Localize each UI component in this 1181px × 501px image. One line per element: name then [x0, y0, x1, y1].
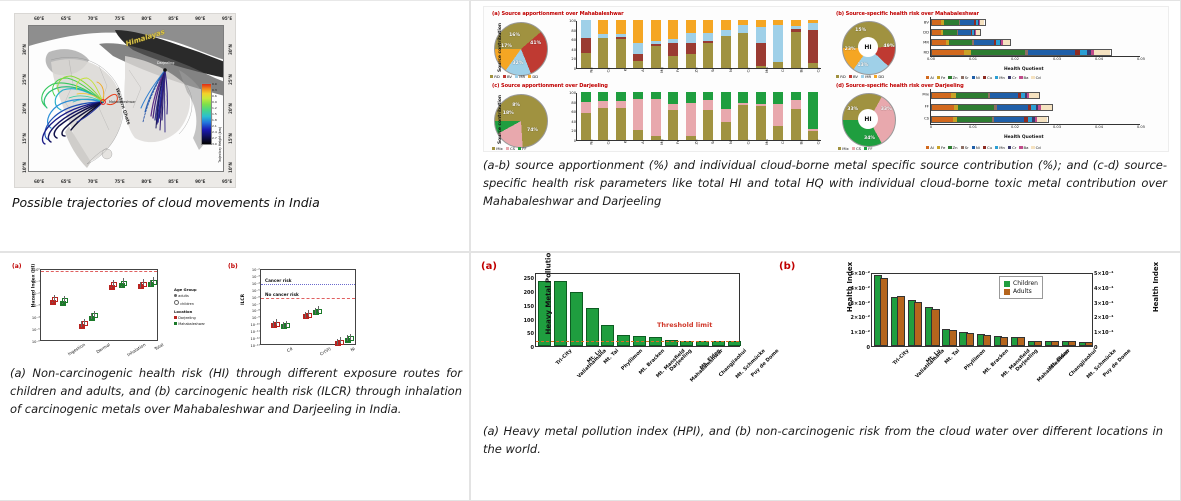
- scatter-point: [338, 340, 344, 345]
- hbar-seg: [949, 40, 972, 45]
- trajectory-map: 60°E65°E70°E75°E80°E85°E90°E95°E 60°E65°…: [14, 13, 236, 188]
- legend-swatch: [503, 75, 506, 78]
- scatter-errbar: [318, 306, 319, 312]
- figure3-panel-b-tag: (b): [228, 263, 238, 270]
- bar-segment-RD: [703, 43, 713, 68]
- bar-segment-FF: [598, 92, 608, 101]
- pie-slice-label: 32%: [512, 61, 523, 66]
- bar-segment-BV: [756, 43, 766, 66]
- legend-entry: Mn: [995, 75, 1005, 80]
- bar-segment-RD: [633, 61, 643, 68]
- hbar-seg: [971, 50, 1025, 55]
- panel-c-bar-axes: 020406080100NaCaKAlMgFeZnSrNiCuMnCrBaCd: [576, 93, 821, 141]
- hbar-seg: [932, 105, 954, 110]
- stacked-bar: [633, 92, 643, 140]
- hi-bar-Adults-1: [897, 296, 905, 346]
- hi-bar-Adults-4: [949, 330, 957, 346]
- bar-segment-MR: [756, 27, 766, 43]
- hpi-ytick: 50: [527, 331, 534, 337]
- scatter-xtick: Cr(VI): [319, 346, 332, 357]
- map-colorbar-tick: 3.0: [212, 142, 217, 146]
- scatter-ytick: 10⁻⁸: [252, 309, 260, 313]
- map-lon-tick: 90°E: [195, 16, 205, 21]
- figure2-caption: (a-b) source apportionment (%) and indiv…: [483, 157, 1167, 210]
- hbar-seg: [944, 20, 960, 25]
- pie-slice-label: 34%: [864, 136, 875, 141]
- scatter-ytick: 10⁻⁵: [252, 289, 260, 293]
- figure3-panel-a-axes: 10⁻⁶10⁻⁵10⁻⁴10⁻³10⁻²10⁻¹10⁰IngestionDerm…: [40, 269, 158, 341]
- scatter-errbar: [54, 295, 55, 301]
- map-lon-tick: 85°E: [168, 16, 178, 21]
- threshold-limit-label: Threshold limit: [657, 321, 712, 329]
- scatter-point: [121, 281, 127, 286]
- pie-slice-label: 41%: [530, 41, 541, 46]
- scatter-errbar: [350, 334, 351, 340]
- legend-label: CS: [856, 146, 861, 151]
- bar-xtick: Mn: [764, 139, 769, 145]
- scatter-ytick: 10⁻⁷: [252, 303, 260, 307]
- legend-swatch: [926, 76, 929, 79]
- bar-xtick: Ni: [728, 140, 733, 144]
- map-lon-tick: 60°E: [34, 16, 44, 21]
- bar-segment-DD: [703, 20, 713, 32]
- bar-segment-FF: [791, 92, 801, 100]
- hpi-ytick: 150: [524, 304, 534, 310]
- bar-segment-FF: [651, 92, 661, 99]
- hbar-seg: [964, 50, 971, 55]
- legend-entry: CS: [506, 146, 515, 151]
- legend-label: Zn: [953, 145, 958, 150]
- scatter-xtick: Ni: [350, 346, 356, 353]
- hi-bar-Adults-9: [1034, 341, 1042, 346]
- legend-label: MR: [865, 74, 871, 79]
- scatter-errbar: [340, 337, 341, 343]
- figure3-caption: (a) Non-carcinogenic health risk (HI) th…: [10, 365, 462, 418]
- legend-entry: Cu: [983, 75, 992, 80]
- bar-segment-MR: [738, 25, 748, 33]
- legend-swatch: [1008, 76, 1011, 79]
- bar-segment-MR: [633, 43, 643, 54]
- bar-xtick: Sr: [710, 140, 715, 144]
- map-colorbar: [201, 83, 212, 145]
- legend-entry: CS: [852, 146, 861, 151]
- stacked-bar: [686, 92, 696, 140]
- legend-swatch: [849, 75, 852, 78]
- hi-bar-Adults-7: [1000, 337, 1008, 346]
- legend-entry: Fe: [937, 145, 946, 150]
- legend-mahabaleshwar-label: Mahabaleshwar: [178, 322, 205, 326]
- scatter-errbar: [113, 280, 114, 286]
- legend-swatch: [852, 147, 855, 150]
- bar-xtick: Ni: [728, 68, 733, 72]
- hbar-seg: [932, 93, 951, 98]
- hi-ytick-right: 4×10⁻⁴: [1094, 286, 1113, 292]
- bar-segment-CS: [721, 109, 731, 121]
- hpi-xtick: Tri-City: [555, 348, 573, 366]
- bar-xtick: Cu: [746, 67, 751, 72]
- bar-segment-Mix: [633, 130, 643, 140]
- figure4-panel-a-ylabel: Heavy Metal Pollution Index: [545, 252, 553, 335]
- scatter-ytick: 10⁻⁵: [32, 328, 40, 332]
- map-lat-tick: 25°N: [228, 74, 233, 85]
- hbar-xtick: 0.04: [1095, 125, 1103, 129]
- hbar-seg: [994, 117, 1024, 122]
- bar-xtick: Na: [588, 67, 593, 72]
- hi-ytick-right: 3×10⁻⁴: [1094, 301, 1113, 307]
- bar-xtick: Cr: [780, 67, 785, 71]
- hbar-xtick: 0.04: [1095, 57, 1103, 61]
- hi-ytick-left: 0: [867, 345, 870, 351]
- bar-ytick: 0: [574, 139, 576, 143]
- bar-xtick: Ba: [798, 139, 803, 144]
- hpi-ytick: 0: [531, 345, 534, 351]
- bar-xtick: Ca: [606, 67, 611, 72]
- bar-xtick: Ca: [606, 139, 611, 144]
- scatter-point: [52, 297, 58, 302]
- bar-segment-CS: [581, 102, 591, 114]
- scatter-point: [306, 313, 312, 318]
- map-lon-tick: 95°E: [222, 16, 232, 21]
- stacked-bar: [598, 92, 608, 140]
- legend-label: RD: [494, 74, 500, 79]
- scatter-errbar: [143, 279, 144, 285]
- map-lon-tick: 65°E: [61, 16, 71, 21]
- legend-swatch: [836, 75, 839, 78]
- legend-row: Children: [1004, 280, 1038, 287]
- map-lon-tick: 95°E: [222, 179, 232, 184]
- hi-ytick-right: 1×10⁻⁴: [1094, 330, 1113, 336]
- legend-entry: Mix: [838, 146, 849, 151]
- map-lon-tick: 80°E: [141, 16, 151, 21]
- legend-swatch: [515, 75, 518, 78]
- map-lat-tick: 10°N: [228, 162, 233, 173]
- stacked-bar: [616, 20, 626, 68]
- bar-segment-FF: [581, 92, 591, 102]
- figure3-image: (a) 10⁻⁶10⁻⁵10⁻⁴10⁻³10⁻²10⁻¹10⁰Ingestion…: [6, 261, 461, 359]
- bar-segment-CS: [703, 100, 713, 111]
- figure2-image: (a) Source apportionment over Mahabalesh…: [483, 6, 1169, 152]
- scatter-point: [62, 298, 68, 303]
- legend-label: DD: [878, 74, 884, 79]
- scatter-errbar: [84, 319, 85, 325]
- bar-segment-DD: [616, 20, 626, 34]
- hbar-seg: [932, 117, 953, 122]
- legend-swatch: [995, 76, 998, 79]
- stacked-bar: [651, 20, 661, 68]
- scatter-ytick: 10⁻³: [252, 275, 260, 279]
- hbar-seg: [932, 30, 941, 35]
- cell-health-risk: (a) 10⁻⁶10⁻⁵10⁻⁴10⁻³10⁻²10⁻¹10⁰Ingestion…: [0, 252, 470, 501]
- legend-swatch: [1031, 76, 1034, 79]
- bar-xtick: Al: [640, 140, 645, 144]
- legend-row: Adults: [1004, 288, 1038, 295]
- stacked-bar: [581, 92, 591, 140]
- bar-xtick: Ba: [798, 67, 803, 72]
- map-colorbar-tick: 0.9: [212, 100, 217, 104]
- cell-source-apportionment: (a) Source apportionment over Mahabalesh…: [470, 0, 1181, 252]
- legend-adults-label: adults: [178, 294, 188, 298]
- figure2-panel-d: (d) Source-specific health risk over Dar…: [834, 83, 1164, 151]
- bar-xtick: Na: [588, 139, 593, 144]
- scatter-ytick: 10⁻¹³: [250, 344, 259, 348]
- scatter-errbar: [94, 311, 95, 317]
- legend-label: Fe: [941, 75, 945, 80]
- map-lat-tick: 10°N: [22, 162, 27, 173]
- legend-label: Mix: [842, 146, 849, 151]
- hi-xtick: Mt. Elden: [1048, 348, 1071, 371]
- hbar-seg: [943, 30, 957, 35]
- figure4-panel-a-axes: 050100150200250Tri-CityValiathamanaMt. L…: [535, 273, 740, 347]
- bar-segment-Mix: [773, 126, 783, 140]
- scatter-xtick: Cd: [286, 346, 293, 353]
- bar-segment-DD: [686, 20, 696, 33]
- map-colorbar-tick: 1.2: [212, 106, 217, 110]
- bar-segment-DD: [651, 20, 661, 41]
- scatter-errbar: [276, 319, 277, 325]
- legend-entry: FF: [864, 146, 873, 151]
- figure4-panel-b-ylabel-right: Health Index: [1152, 262, 1160, 312]
- bar-segment-DD: [598, 20, 608, 34]
- bar-segment-RD: [616, 39, 626, 68]
- panel-d-legend: MixCSFF: [838, 146, 873, 151]
- legend-label: Children: [1013, 280, 1038, 287]
- legend-entry: Mix: [492, 146, 503, 151]
- figure1-caption: Possible trajectories of cloud movements…: [12, 195, 452, 210]
- map-colorbar-tick: 0.0: [212, 82, 217, 86]
- legend-label: Cd: [1036, 145, 1041, 150]
- hbar-seg: [960, 20, 974, 25]
- hpi-ytick: 250: [524, 276, 534, 282]
- legend-swatch: [1031, 146, 1034, 149]
- map-lat-tick: 20°N: [22, 103, 27, 114]
- scatter-xtick: Dermal: [96, 342, 112, 354]
- hi-xtick: Mt. Tai: [943, 348, 961, 366]
- legend-swatch: [518, 147, 521, 150]
- legend-entry: Sr: [961, 75, 969, 80]
- stacked-bar: [703, 92, 713, 140]
- hbar-MR: [931, 39, 1011, 46]
- bar-xtick: Fe: [675, 139, 680, 143]
- map-lon-tick: 75°E: [115, 16, 125, 21]
- legend-children-label: children: [180, 302, 194, 306]
- pie-slice-label: 33%: [881, 107, 892, 112]
- map-canvas: Himalayas Western Ghats Mahabaleshwar Da…: [28, 25, 224, 172]
- cell-hpi: (a) 050100150200250Tri-CityValiathamanaM…: [470, 252, 1181, 501]
- map-colorbar-tick: 2.1: [212, 124, 217, 128]
- legend-entry: RD: [836, 74, 846, 79]
- stacked-bar: [791, 92, 801, 140]
- hbar-xtick: 0.03: [1053, 125, 1061, 129]
- bar-segment-FF: [686, 92, 696, 103]
- legend-label: Cr: [1012, 145, 1016, 150]
- map-lon-tick: 90°E: [195, 179, 205, 184]
- bar-segment-Mix: [703, 110, 713, 140]
- scatter-ytick: 10⁻¹²: [250, 337, 259, 341]
- hbar-seg: [976, 30, 980, 35]
- legend-entry: BV: [849, 74, 858, 79]
- legend-label: RD: [840, 74, 846, 79]
- map-lat-tick: 20°N: [228, 103, 233, 114]
- legend-entry: Cr: [1008, 75, 1016, 80]
- figure4-panel-b-legend: ChildrenAdults: [999, 276, 1043, 299]
- legend-swatch: [1004, 281, 1010, 287]
- legend-swatch: [948, 76, 951, 79]
- legend-entry: Zn: [948, 145, 957, 150]
- stacked-bar: [651, 92, 661, 140]
- hbar-xtick: 0: [930, 125, 932, 129]
- legend-swatch: [937, 146, 940, 149]
- stacked-bar: [703, 20, 713, 68]
- hbar-seg: [980, 20, 985, 25]
- hpi-ytick: 200: [524, 290, 534, 296]
- scatter-ytick: 10⁻⁶: [252, 296, 260, 300]
- figure3-panel-a-ylabel: Hazard Index (HI): [31, 264, 36, 308]
- bar-xtick: Cd: [816, 139, 821, 144]
- panel-d-metal-legend: AlFeZnSrNiCuMnCrBaCd: [926, 145, 1041, 150]
- legend-entry: Al: [926, 75, 934, 80]
- scatter-ytick: 10⁻¹⁰: [250, 323, 259, 327]
- legend-entry: Fe: [937, 75, 946, 80]
- pie-slice-label: 18%: [503, 111, 514, 116]
- bar-segment-Mix: [738, 105, 748, 140]
- map-colorbar-tick: 2.4: [212, 130, 217, 134]
- scatter-errbar: [64, 296, 65, 302]
- hpi-bar-4: [601, 325, 614, 346]
- legend-swatch: [861, 75, 864, 78]
- legend-entry: Ba: [1019, 75, 1028, 80]
- legend-label: Mn: [999, 145, 1005, 150]
- legend-label: Mn: [999, 75, 1005, 80]
- bar-xtick: Sr: [710, 68, 715, 72]
- hi-bar-Adults-0: [880, 278, 888, 346]
- scatter-xtick: Total: [154, 342, 165, 351]
- bar-segment-RD: [721, 36, 731, 68]
- reference-line: [261, 284, 355, 285]
- hbar-seg: [1041, 105, 1052, 110]
- bar-segment-FF: [773, 92, 783, 104]
- bar-segment-FF: [633, 92, 643, 99]
- legend-entry: Cd: [1031, 75, 1040, 80]
- legend-label: BV: [853, 74, 858, 79]
- scatter-point: [82, 321, 88, 326]
- map-colorbar-tick: 2.7: [212, 136, 217, 140]
- legend-swatch: [983, 76, 986, 79]
- legend-label: Cr: [1012, 75, 1016, 80]
- hbar-RD: [931, 49, 1112, 56]
- legend-label: BV: [507, 74, 512, 79]
- bar-segment-RD: [651, 46, 661, 68]
- legend-entry: Zn: [948, 75, 957, 80]
- bar-xtick: K: [622, 68, 627, 71]
- bar-segment-Mix: [721, 122, 731, 140]
- stacked-bar: [773, 20, 783, 68]
- hbar-seg: [1094, 50, 1110, 55]
- hi-bar-Adults-6: [983, 335, 991, 346]
- legend-entry: Cr: [1008, 145, 1016, 150]
- figure4-panel-b-tag: (b): [779, 261, 795, 272]
- legend-label: DD: [532, 74, 538, 79]
- figure3-panel-b-ylabel: ILCR: [241, 294, 246, 305]
- legend-swatch: [948, 146, 951, 149]
- bar-xtick: Zn: [693, 67, 698, 72]
- pie-slice-label: 13%: [857, 63, 868, 68]
- legend-swatch: [838, 147, 841, 150]
- hpi-ytick: 100: [524, 318, 534, 324]
- bar-ytick: 40: [571, 48, 576, 52]
- figure3-legend-children: children: [174, 300, 194, 306]
- legend-swatch: [926, 146, 929, 149]
- bar-segment-DD: [721, 20, 731, 30]
- legend-entry: Ni: [972, 75, 980, 80]
- threshold-line: [536, 341, 739, 342]
- stacked-bar: [668, 20, 678, 68]
- annotation-Cancer-risk: Cancer risk: [265, 278, 292, 283]
- panel-a-ylabel: Source contribution: [498, 23, 503, 72]
- bar-segment-FF: [616, 92, 626, 101]
- legend-entry: Cu: [983, 145, 992, 150]
- pie-slice-label: 16%: [509, 33, 520, 38]
- map-lon-tick: 85°E: [168, 179, 178, 184]
- legend-label: Ni: [976, 145, 980, 150]
- hpi-bar-2: [570, 292, 583, 346]
- stacked-bar: [756, 20, 766, 68]
- scatter-point: [284, 323, 290, 328]
- scatter-ytick: 10⁻⁶: [32, 340, 40, 344]
- hbar-seg: [997, 105, 1028, 110]
- scatter-xtick: Inhalation: [126, 342, 146, 357]
- legend-label: Cd: [1036, 75, 1041, 80]
- legend-label: Mix: [496, 146, 503, 151]
- legend-label: Al: [930, 75, 934, 80]
- panel-a-legend: RDBVMRDD: [490, 74, 538, 79]
- legend-swatch: [961, 76, 964, 79]
- map-lat-tick: 15°N: [22, 133, 27, 144]
- legend-swatch: [995, 146, 998, 149]
- panel-a-bar-axes: 020406080100NaCaKAlMgFeZnSrNiCuMnCrBaCd: [576, 21, 821, 69]
- bar-segment-Mix: [581, 113, 591, 140]
- panel-c-title: (c) Source apportionment over Darjeeling: [492, 83, 608, 89]
- hbar-seg: [1080, 50, 1087, 55]
- hi-bar-Adults-2: [914, 302, 922, 346]
- hbar-seg: [1003, 40, 1010, 45]
- hbar-seg: [958, 105, 994, 110]
- figure3-legend-agegroup-title: Age Group: [174, 287, 197, 292]
- legend-label: Cu: [987, 145, 992, 150]
- legend-label: Cu: [987, 75, 992, 80]
- map-colorbar-tick: 1.5: [212, 112, 217, 116]
- bar-segment-DD: [633, 20, 643, 43]
- map-lat-tick: 25°N: [22, 74, 27, 85]
- scatter-point: [274, 322, 280, 327]
- panel-b-legend: RDBVMRDD: [836, 74, 884, 79]
- hbar-seg: [932, 20, 941, 25]
- hbar-seg: [958, 30, 971, 35]
- hpi-bar-1: [554, 281, 567, 346]
- stacked-bar: [686, 20, 696, 68]
- bar-segment-BV: [581, 38, 591, 52]
- hbar-xtick: 0.01: [969, 125, 977, 129]
- legend-label: CS: [510, 146, 515, 151]
- legend-label: Sr: [965, 75, 969, 80]
- legend-label: Al: [930, 145, 934, 150]
- map-colorbar-tick: 0.3: [212, 88, 217, 92]
- bar-segment-RD: [686, 54, 696, 68]
- hi-ytick-left: 2×10⁻²: [851, 315, 870, 321]
- reference-line: [41, 271, 157, 272]
- hbar-seg: [1028, 50, 1074, 55]
- figure4-panel-a-tag: (a): [481, 261, 497, 272]
- bar-segment-RD: [668, 56, 678, 68]
